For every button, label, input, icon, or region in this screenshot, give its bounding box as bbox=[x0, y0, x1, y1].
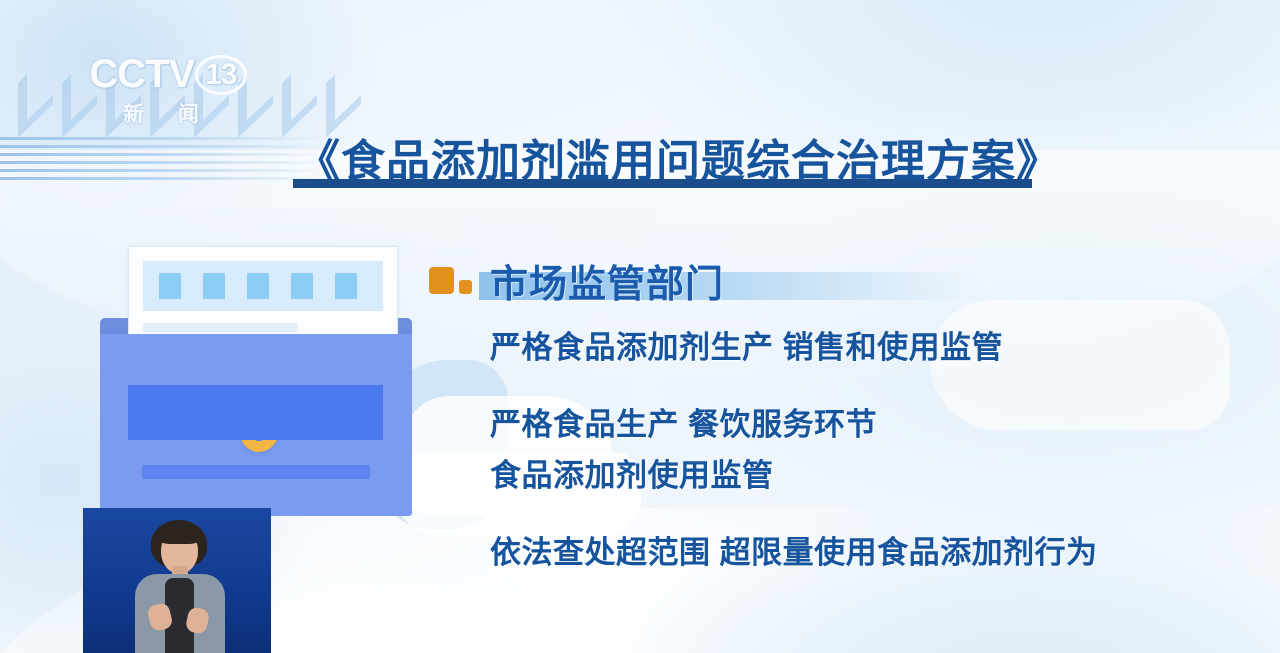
stripe-line bbox=[0, 169, 330, 172]
bullet-line: 食品添加剂使用监管 bbox=[490, 450, 1190, 495]
stripe-line bbox=[0, 177, 330, 180]
document-block-icon bbox=[291, 273, 313, 299]
document-text-line bbox=[143, 323, 298, 332]
page-title-underline bbox=[293, 179, 1032, 188]
document-block-icon bbox=[203, 273, 225, 299]
bullet-list: 严格食品添加剂生产 销售和使用监管 严格食品生产 餐饮服务环节 食品添加剂使用监… bbox=[490, 322, 1190, 572]
stripe-line bbox=[0, 161, 330, 164]
bullet-line: 依法查处超范围 超限量使用食品添加剂行为 bbox=[490, 527, 1190, 572]
bullet-line: 严格食品添加剂生产 销售和使用监管 bbox=[490, 322, 1190, 367]
section-marker-large-icon bbox=[429, 267, 454, 294]
cctv-logo-subtitle: 新 闻 bbox=[78, 98, 258, 128]
folder-inner-panel bbox=[128, 385, 383, 440]
folder-front-panel bbox=[100, 334, 412, 516]
document-folder-illustration bbox=[100, 240, 420, 520]
stripe-decoration bbox=[0, 137, 330, 187]
document-block-icon bbox=[247, 273, 269, 299]
stripe-line bbox=[0, 145, 330, 148]
broadcast-graphic-stage: CCTV13 新 闻 《食品添加剂滥用问题综合治理方案》 市场监管部门 bbox=[0, 0, 1280, 653]
stripe-line bbox=[0, 153, 330, 156]
document-block-icon bbox=[159, 273, 181, 299]
cctv-logo-text: CCTV bbox=[89, 52, 194, 96]
sign-language-interpreter-inset bbox=[83, 508, 271, 653]
stripe-line bbox=[0, 137, 330, 140]
cctv-logo: CCTV13 新 闻 bbox=[78, 54, 258, 130]
cctv-logo-number: 13 bbox=[195, 55, 246, 95]
section-heading: 市场监管部门 bbox=[490, 253, 724, 308]
section-marker-small-icon bbox=[459, 280, 472, 294]
bullet-line: 严格食品生产 餐饮服务环节 bbox=[490, 399, 1190, 444]
document-paper bbox=[128, 246, 398, 348]
document-block-icon bbox=[335, 273, 357, 299]
cctv-logo-main: CCTV13 bbox=[78, 54, 258, 95]
folder-bottom-strip bbox=[142, 465, 370, 479]
document-header-bar bbox=[143, 261, 383, 311]
interpreter-fringe bbox=[157, 524, 202, 544]
